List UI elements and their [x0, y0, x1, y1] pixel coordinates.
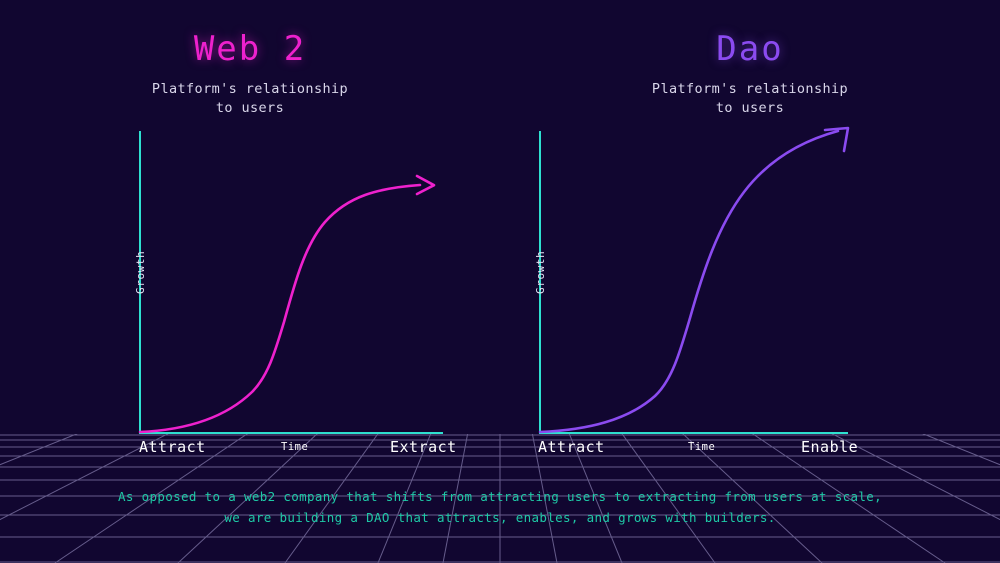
slide-canvas: Web 2 Platform's relationship to users G… [0, 0, 1000, 563]
x-axis-label-dao: Time [688, 441, 715, 453]
x-axis-start-label-dao: Attract [538, 438, 605, 456]
y-axis-label-dao: Growth [534, 251, 547, 294]
panel-dao: Dao Platform's relationship to users Gro… [500, 0, 1000, 470]
x-axis-label-web2: Time [281, 441, 308, 453]
panel-web2: Web 2 Platform's relationship to users G… [0, 0, 500, 470]
plot-area-dao: Growth Attract Time Enable [500, 0, 1000, 470]
growth-curve-dao [540, 131, 838, 432]
x-axis-start-label-web2: Attract [139, 438, 206, 456]
slide-caption-line2: we are building a DAO that attracts, ena… [0, 507, 1000, 528]
x-axis-end-label-dao: Enable [801, 438, 858, 456]
growth-curve-web2 [140, 185, 420, 432]
slide-caption: As opposed to a web2 company that shifts… [0, 486, 1000, 528]
x-axis-end-label-web2: Extract [390, 438, 457, 456]
y-axis-label-web2: Growth [134, 251, 147, 294]
plot-area-web2: Growth Attract Time Extract [0, 0, 500, 470]
slide-caption-line1: As opposed to a web2 company that shifts… [0, 486, 1000, 507]
